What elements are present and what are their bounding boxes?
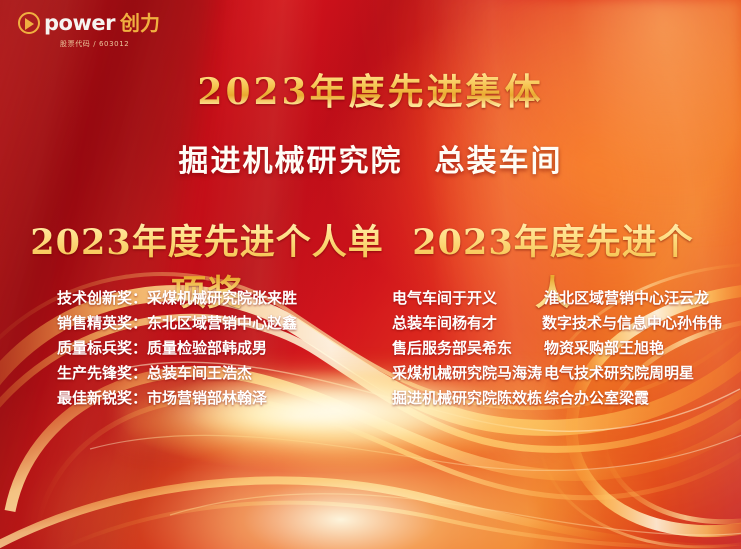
award-poster: power 创力 股票代码 / 603012 2023年度先进集体 掘进机械研究… [0, 0, 741, 549]
logo-row: power 创力 [18, 12, 188, 34]
list-item: 电气车间于开义 淮北区域营销中心汪云龙 [392, 286, 722, 311]
list-item: 质量标兵奖 ： 质量检验部韩成男 [34, 336, 334, 361]
logo-wordmark-cn: 创力 [120, 13, 160, 33]
list-item: 总装车间杨有才 数字技术与信息中心孙伟伟 [392, 311, 722, 336]
page-subtitle: 掘进机械研究院 总装车间 [0, 136, 741, 180]
recipient-left: 售后服务部吴希东 [392, 336, 544, 361]
poster-content: power 创力 股票代码 / 603012 2023年度先进集体 掘进机械研究… [0, 0, 741, 549]
special-award-list: 技术创新奖 ： 采煤机械研究院张来胜 销售精英奖 ： 东北区域营销中心赵鑫 质量… [34, 286, 334, 411]
award-separator: ： [132, 311, 147, 336]
list-item: 最佳新锐奖 ： 市场营销部林翰泽 [34, 386, 334, 411]
recipient-left: 总装车间杨有才 [392, 311, 542, 336]
recipient-right: 电气技术研究院周明星 [544, 361, 694, 386]
list-item: 售后服务部吴希东 物资采购部王旭艳 [392, 336, 722, 361]
award-separator: ： [132, 336, 147, 361]
individual-award-list: 电气车间于开义 淮北区域营销中心汪云龙 总装车间杨有才 数字技术与信息中心孙伟伟… [392, 286, 722, 411]
recipient-left: 采煤机械研究院马海涛 [392, 361, 544, 386]
award-category: 质量标兵奖 [34, 336, 132, 361]
stock-code-label: 股票代码 / 603012 [60, 39, 188, 49]
list-item: 销售精英奖 ： 东北区域营销中心赵鑫 [34, 311, 334, 336]
award-recipient: 总装车间王浩杰 [147, 361, 252, 386]
recipient-right: 物资采购部王旭艳 [544, 336, 664, 361]
recipient-left: 掘进机械研究院陈效栋 [392, 386, 544, 411]
recipient-right: 综合办公室梁霞 [544, 386, 649, 411]
award-recipient: 质量检验部韩成男 [147, 336, 267, 361]
power-circle-icon [18, 12, 40, 34]
logo-wordmark: power [44, 13, 115, 34]
list-item: 生产先锋奖 ： 总装车间王浩杰 [34, 361, 334, 386]
recipient-right: 淮北区域营销中心汪云龙 [544, 286, 709, 311]
recipient-right: 数字技术与信息中心孙伟伟 [542, 311, 722, 336]
award-category: 销售精英奖 [34, 311, 132, 336]
list-item: 技术创新奖 ： 采煤机械研究院张来胜 [34, 286, 334, 311]
section-headings: 2023年度先进个人单项奖 2023年度先进个人 [0, 214, 741, 266]
award-category: 生产先锋奖 [34, 361, 132, 386]
award-recipient: 采煤机械研究院张来胜 [147, 286, 297, 311]
award-recipient: 市场营销部林翰泽 [147, 386, 267, 411]
list-item: 掘进机械研究院陈效栋 综合办公室梁霞 [392, 386, 722, 411]
award-category: 最佳新锐奖 [34, 386, 132, 411]
company-logo: power 创力 股票代码 / 603012 [18, 12, 188, 49]
award-separator: ： [132, 386, 147, 411]
award-recipient: 东北区域营销中心赵鑫 [147, 311, 297, 336]
award-separator: ： [132, 361, 147, 386]
award-separator: ： [132, 286, 147, 311]
list-item: 采煤机械研究院马海涛 电气技术研究院周明星 [392, 361, 722, 386]
page-title: 2023年度先进集体 [0, 63, 741, 115]
award-category: 技术创新奖 [34, 286, 132, 311]
recipient-left: 电气车间于开义 [392, 286, 544, 311]
